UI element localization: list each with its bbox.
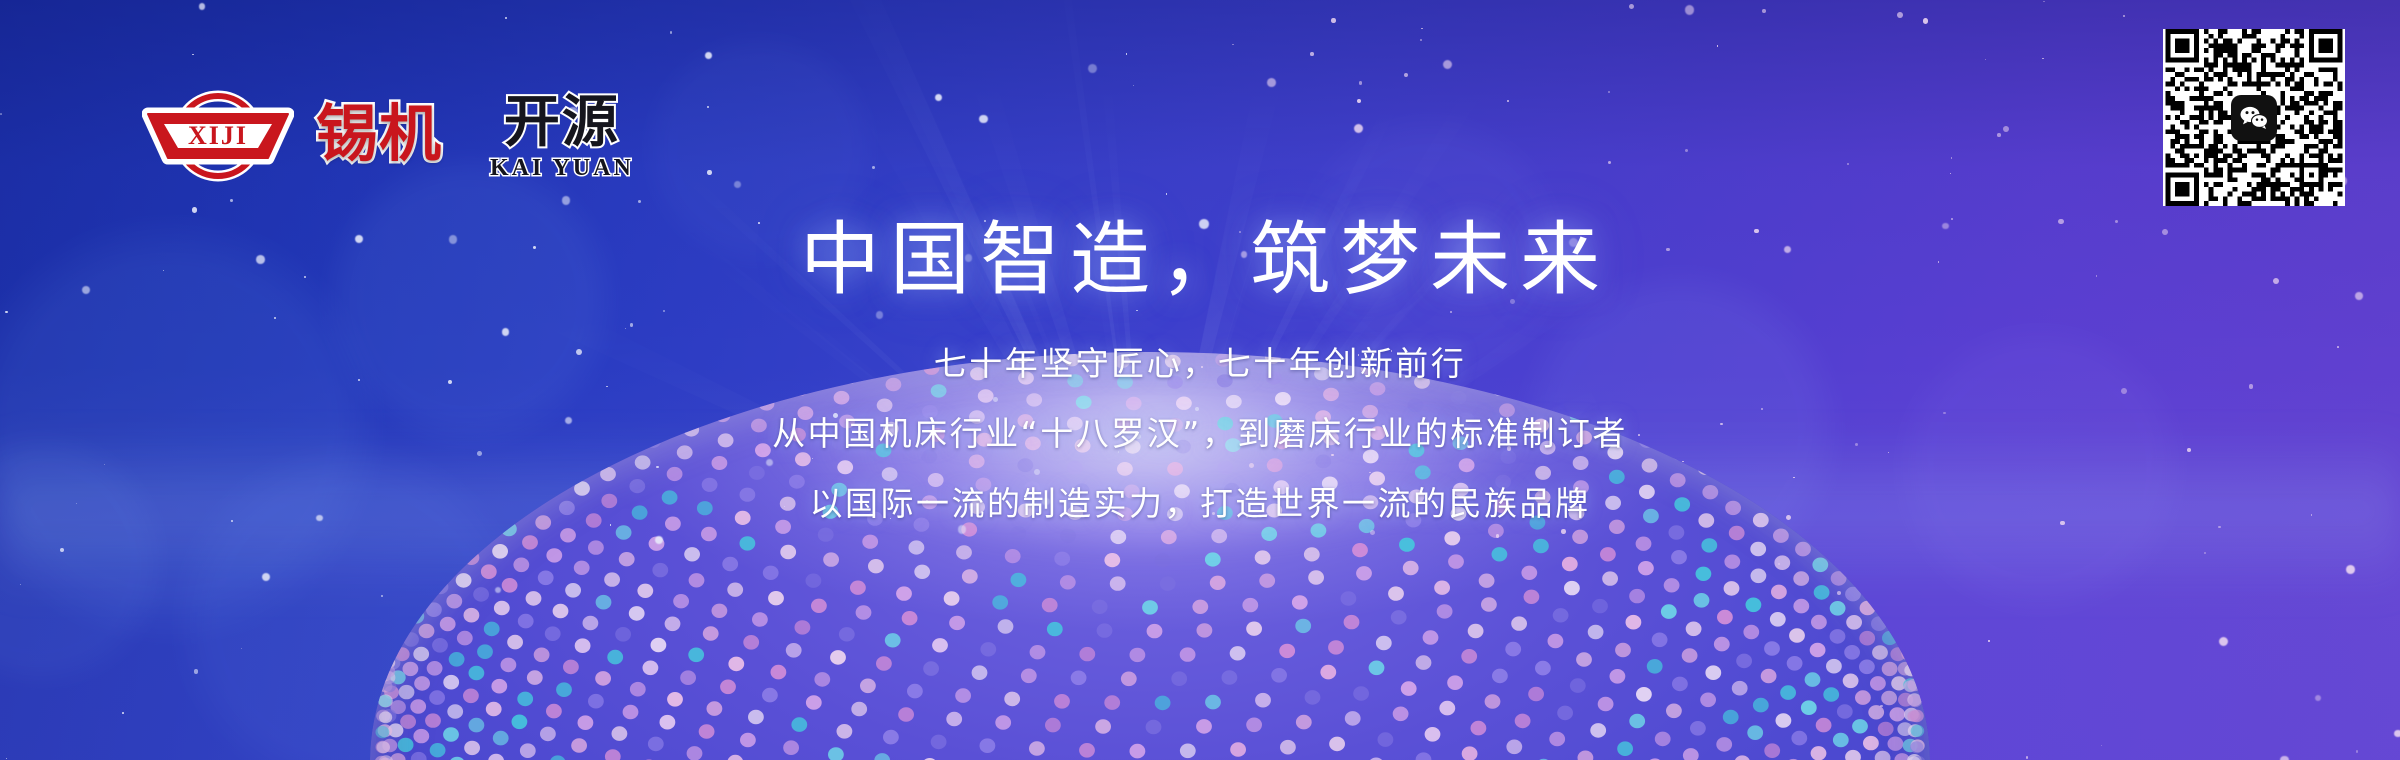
xiji-oval-emblem-icon: XIJI — [142, 86, 294, 186]
wechat-qr-code[interactable] — [2163, 29, 2345, 206]
sub-brand-en: KAI YUAN — [490, 156, 634, 180]
sub-brand-block: 开源 KAI YUAN — [490, 95, 634, 180]
sub-brand-cn: 开源 — [490, 95, 634, 151]
promo-banner: XIJI 锡机 开源 KAI YUAN 中国智造，筑梦未来 七十年坚守匠心，七十… — [0, 0, 2400, 760]
svg-text:XIJI: XIJI — [188, 121, 248, 150]
brand-logo-lockup[interactable]: XIJI 锡机 开源 KAI YUAN — [142, 78, 634, 194]
background-light-band — [0, 430, 2400, 600]
brand-name-cn: 锡机 — [316, 103, 442, 165]
wechat-icon — [2231, 95, 2277, 141]
